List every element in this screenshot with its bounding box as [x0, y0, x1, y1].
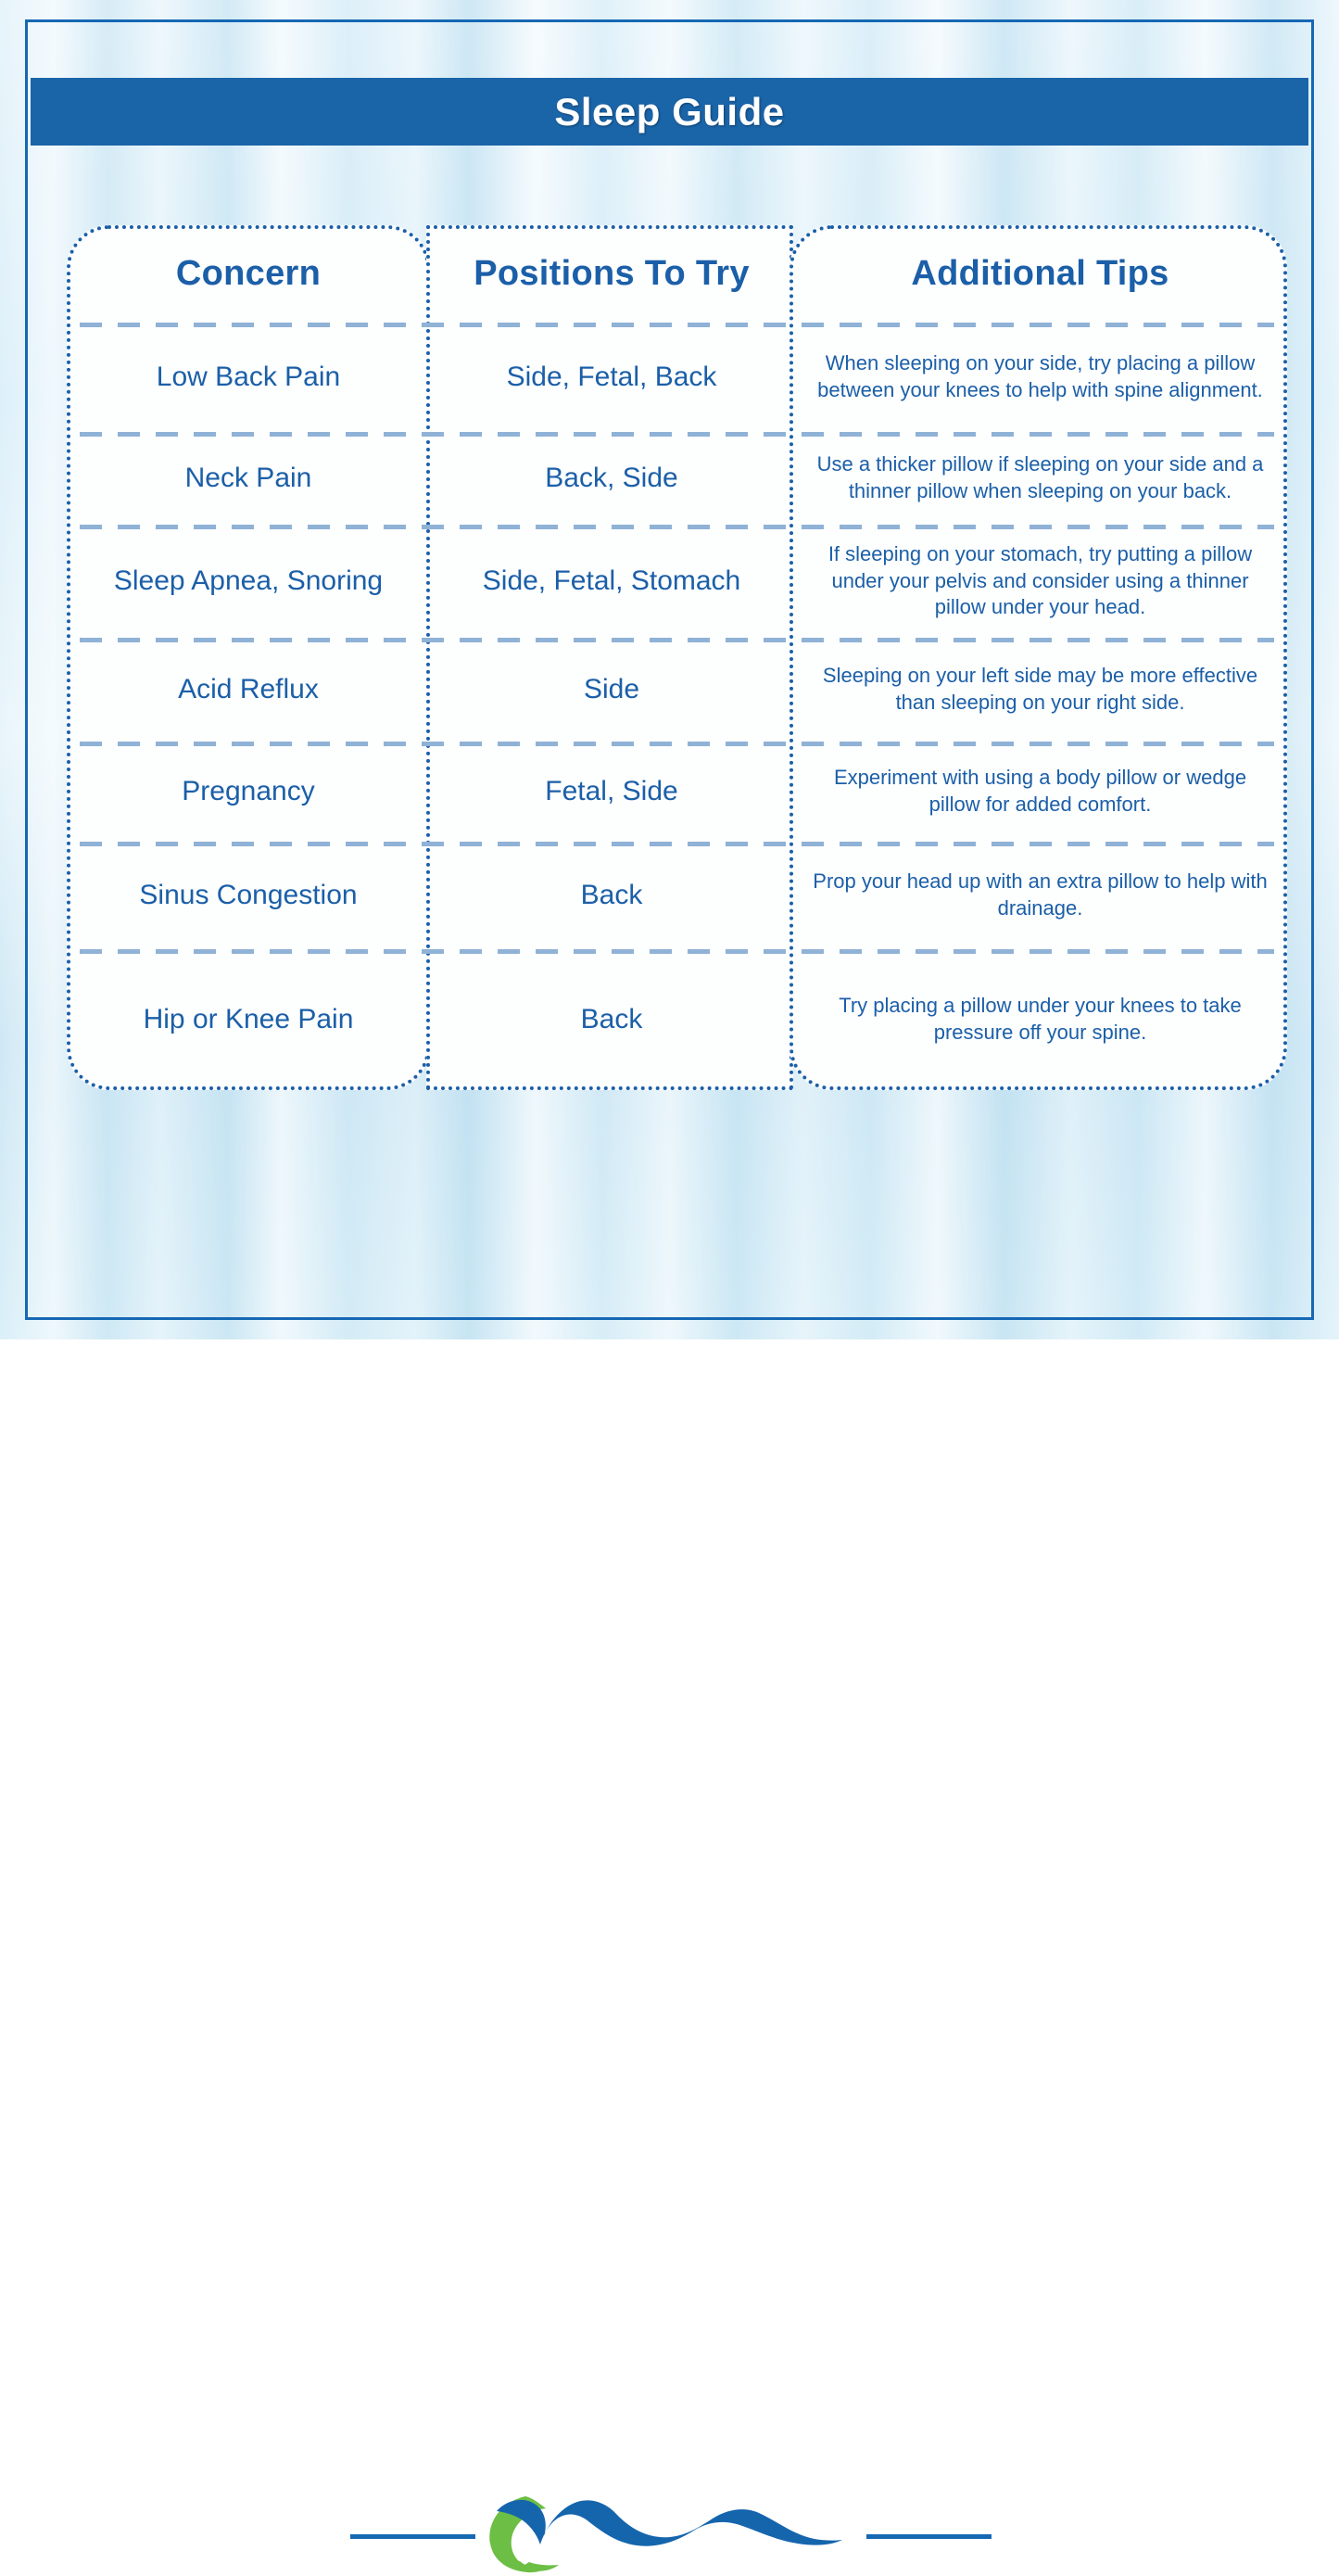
table-row: Back, Side: [430, 432, 793, 525]
sleep-guide-table: Concern Positions To Try Additional Tips…: [67, 225, 1287, 1090]
column-header-concern: Concern: [67, 225, 430, 323]
table-row: Experiment with using a body pillow or w…: [793, 742, 1287, 842]
title-banner: Sleep Guide: [31, 78, 1308, 146]
table-row: Back: [430, 842, 793, 949]
footer-rule-left: [350, 2534, 475, 2539]
table-grid: Concern Positions To Try Additional Tips…: [67, 225, 1287, 1090]
footer-rule-right: [866, 2534, 992, 2539]
table-row: Sleeping on your left side may be more e…: [793, 638, 1287, 742]
table-row: Sleep Apnea, Snoring: [67, 525, 430, 638]
table-row: Prop your head up with an extra pillow t…: [793, 842, 1287, 949]
table-row: Acid Reflux: [67, 638, 430, 742]
footer: [0, 1238, 1339, 1339]
page-title: Sleep Guide: [554, 90, 784, 134]
table-row: Side, Fetal, Back: [430, 323, 793, 432]
column-header-positions: Positions To Try: [430, 225, 793, 323]
table-row: When sleeping on your side, try placing …: [793, 323, 1287, 432]
wave-swoosh-logo-icon: [468, 2483, 876, 2576]
table-row: Fetal, Side: [430, 742, 793, 842]
table-row: Sinus Congestion: [67, 842, 430, 949]
table-row: Pregnancy: [67, 742, 430, 842]
table-row: If sleeping on your stomach, try putting…: [793, 525, 1287, 638]
table-row: Side, Fetal, Stomach: [430, 525, 793, 638]
table-row: Use a thicker pillow if sleeping on your…: [793, 432, 1287, 525]
table-row: Try placing a pillow under your knees to…: [793, 949, 1287, 1090]
table-row: Low Back Pain: [67, 323, 430, 432]
table-row: Hip or Knee Pain: [67, 949, 430, 1090]
table-row: Neck Pain: [67, 432, 430, 525]
table-row: Back: [430, 949, 793, 1090]
table-row: Side: [430, 638, 793, 742]
sleep-guide-page: Sleep Guide Concern Positions To Try Add…: [0, 0, 1339, 1339]
column-header-tips: Additional Tips: [793, 225, 1287, 323]
